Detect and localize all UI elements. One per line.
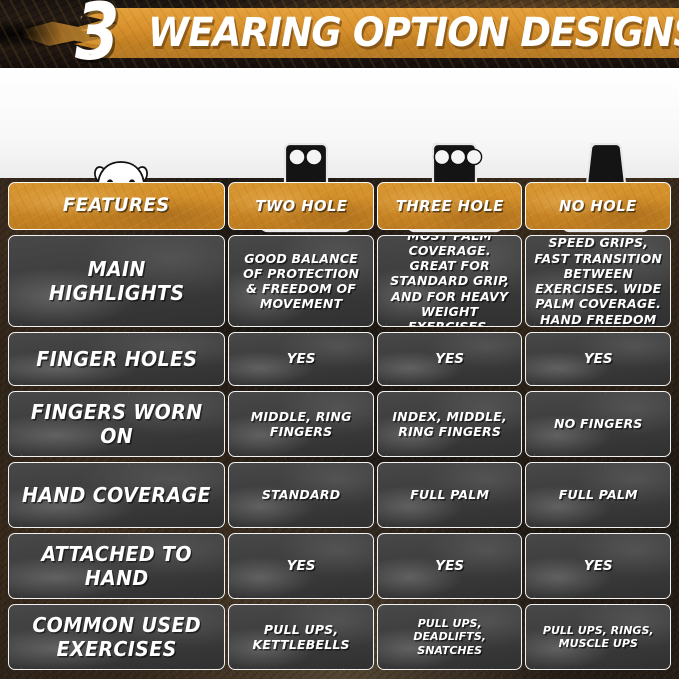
value-cell-two-hole: MIDDLE, RING FINGERS	[228, 391, 374, 457]
header-banner: 3 WEARING OPTION DESIGNS	[0, 0, 679, 68]
banner-title: WEARING OPTION DESIGNS	[148, 9, 679, 57]
value-cell-three-hole: YES	[377, 533, 523, 599]
header-label: TWO HOLE	[248, 193, 353, 220]
header-cell-features: FEATURES	[8, 182, 225, 230]
banner-number: 3	[75, 0, 117, 68]
value-cell-three-hole: INDEX, MIDDLE, RING FINGERS	[377, 391, 523, 457]
feature-cell: FINGERS WORN ON	[8, 391, 225, 457]
value-label: STANDARD	[255, 483, 347, 506]
value-label: YES	[280, 554, 323, 578]
feature-label: MAIN HIGHLIGHTS	[14, 253, 219, 310]
finger-hole-icon	[289, 149, 305, 165]
feature-cell: COMMON USED EXERCISES	[8, 604, 225, 670]
feature-cell: FINGER HOLES	[8, 332, 225, 386]
value-label: YES	[577, 347, 620, 371]
feature-label: FINGER HOLES	[29, 343, 203, 375]
value-cell-three-hole: PULL UPS, DEADLIFTS, SNATCHES	[377, 604, 523, 670]
value-label: GOOD BALANCE OF PROTECTION & FREEDOM OF …	[229, 247, 373, 316]
finger-hole-icon	[306, 149, 322, 165]
header-cell-no-hole: NO HOLE	[525, 182, 671, 230]
value-label: FULL PALM	[552, 483, 645, 506]
value-label: INDEX, MIDDLE, RING FINGERS	[378, 405, 522, 444]
feature-label: ATTACHED TO HAND	[14, 538, 219, 595]
value-cell-two-hole: YES	[228, 332, 374, 386]
value-cell-two-hole: GOOD BALANCE OF PROTECTION & FREEDOM OF …	[228, 235, 374, 327]
value-label: PULL UPS, KETTLEBELLS	[229, 618, 373, 657]
finger-hole-icon	[450, 149, 465, 164]
value-cell-no-hole: PULL UPS, RINGS, MUSCLE UPS	[525, 604, 671, 670]
value-label: YES	[280, 347, 323, 371]
table-row: MAIN HIGHLIGHTS GOOD BALANCE OF PROTECTI…	[8, 235, 671, 327]
value-label: SPEED GRIPS, FAST TRANSITION BETWEEN EXE…	[526, 235, 670, 327]
table-row: COMMON USED EXERCISES PULL UPS, KETTLEBE…	[8, 604, 671, 670]
feature-label: FINGERS WORN ON	[14, 396, 219, 453]
value-label: FULL PALM	[403, 483, 496, 506]
value-label: MOST PALM COVERAGE. GREAT FOR STANDARD G…	[378, 235, 522, 327]
value-label: PULL UPS, RINGS, MUSCLE UPS	[526, 620, 670, 655]
value-cell-three-hole: FULL PALM	[377, 462, 523, 528]
value-cell-no-hole: YES	[525, 332, 671, 386]
table-row: FINGER HOLES YES YES YES	[8, 332, 671, 386]
table-header-row: FEATURES TWO HOLE THREE HOLE NO HOLE	[8, 182, 671, 230]
value-cell-no-hole: SPEED GRIPS, FAST TRANSITION BETWEEN EXE…	[525, 235, 671, 327]
value-label: YES	[428, 347, 471, 371]
feature-cell: HAND COVERAGE	[8, 462, 225, 528]
value-cell-three-hole: YES	[377, 332, 523, 386]
value-label: MIDDLE, RING FINGERS	[229, 405, 373, 444]
value-label: NO FINGERS	[547, 412, 650, 435]
feature-label: COMMON USED EXERCISES	[14, 609, 219, 666]
value-cell-no-hole: NO FINGERS	[525, 391, 671, 457]
value-cell-no-hole: YES	[525, 533, 671, 599]
value-cell-no-hole: FULL PALM	[525, 462, 671, 528]
header-cell-two-hole: TWO HOLE	[228, 182, 374, 230]
value-cell-three-hole: MOST PALM COVERAGE. GREAT FOR STANDARD G…	[377, 235, 523, 327]
feature-label: HAND COVERAGE	[16, 479, 218, 511]
table-row: ATTACHED TO HAND YES YES YES	[8, 533, 671, 599]
feature-cell: MAIN HIGHLIGHTS	[8, 235, 225, 327]
value-label: YES	[577, 554, 620, 578]
feature-cell: ATTACHED TO HAND	[8, 533, 225, 599]
finger-hole-icon	[434, 149, 449, 164]
value-label: PULL UPS, DEADLIFTS, SNATCHES	[378, 613, 522, 661]
header-cell-three-hole: THREE HOLE	[377, 182, 523, 230]
value-label: YES	[428, 554, 471, 578]
value-cell-two-hole: STANDARD	[228, 462, 374, 528]
table-row: HAND COVERAGE STANDARD FULL PALM FULL PA…	[8, 462, 671, 528]
header-label: THREE HOLE	[389, 193, 510, 220]
finger-hole-icon	[466, 149, 481, 164]
header-label: FEATURES	[57, 190, 177, 221]
value-cell-two-hole: YES	[228, 533, 374, 599]
comparison-table: FEATURES TWO HOLE THREE HOLE NO HOLE MAI…	[8, 182, 671, 675]
value-cell-two-hole: PULL UPS, KETTLEBELLS	[228, 604, 374, 670]
product-strip: BEAR GRIPS ® HONEY	[0, 68, 679, 178]
infographic-page: 3 WEARING OPTION DESIGNS	[0, 0, 679, 679]
header-label: NO HOLE	[553, 193, 644, 220]
table-row: FINGERS WORN ON MIDDLE, RING FINGERS IND…	[8, 391, 671, 457]
